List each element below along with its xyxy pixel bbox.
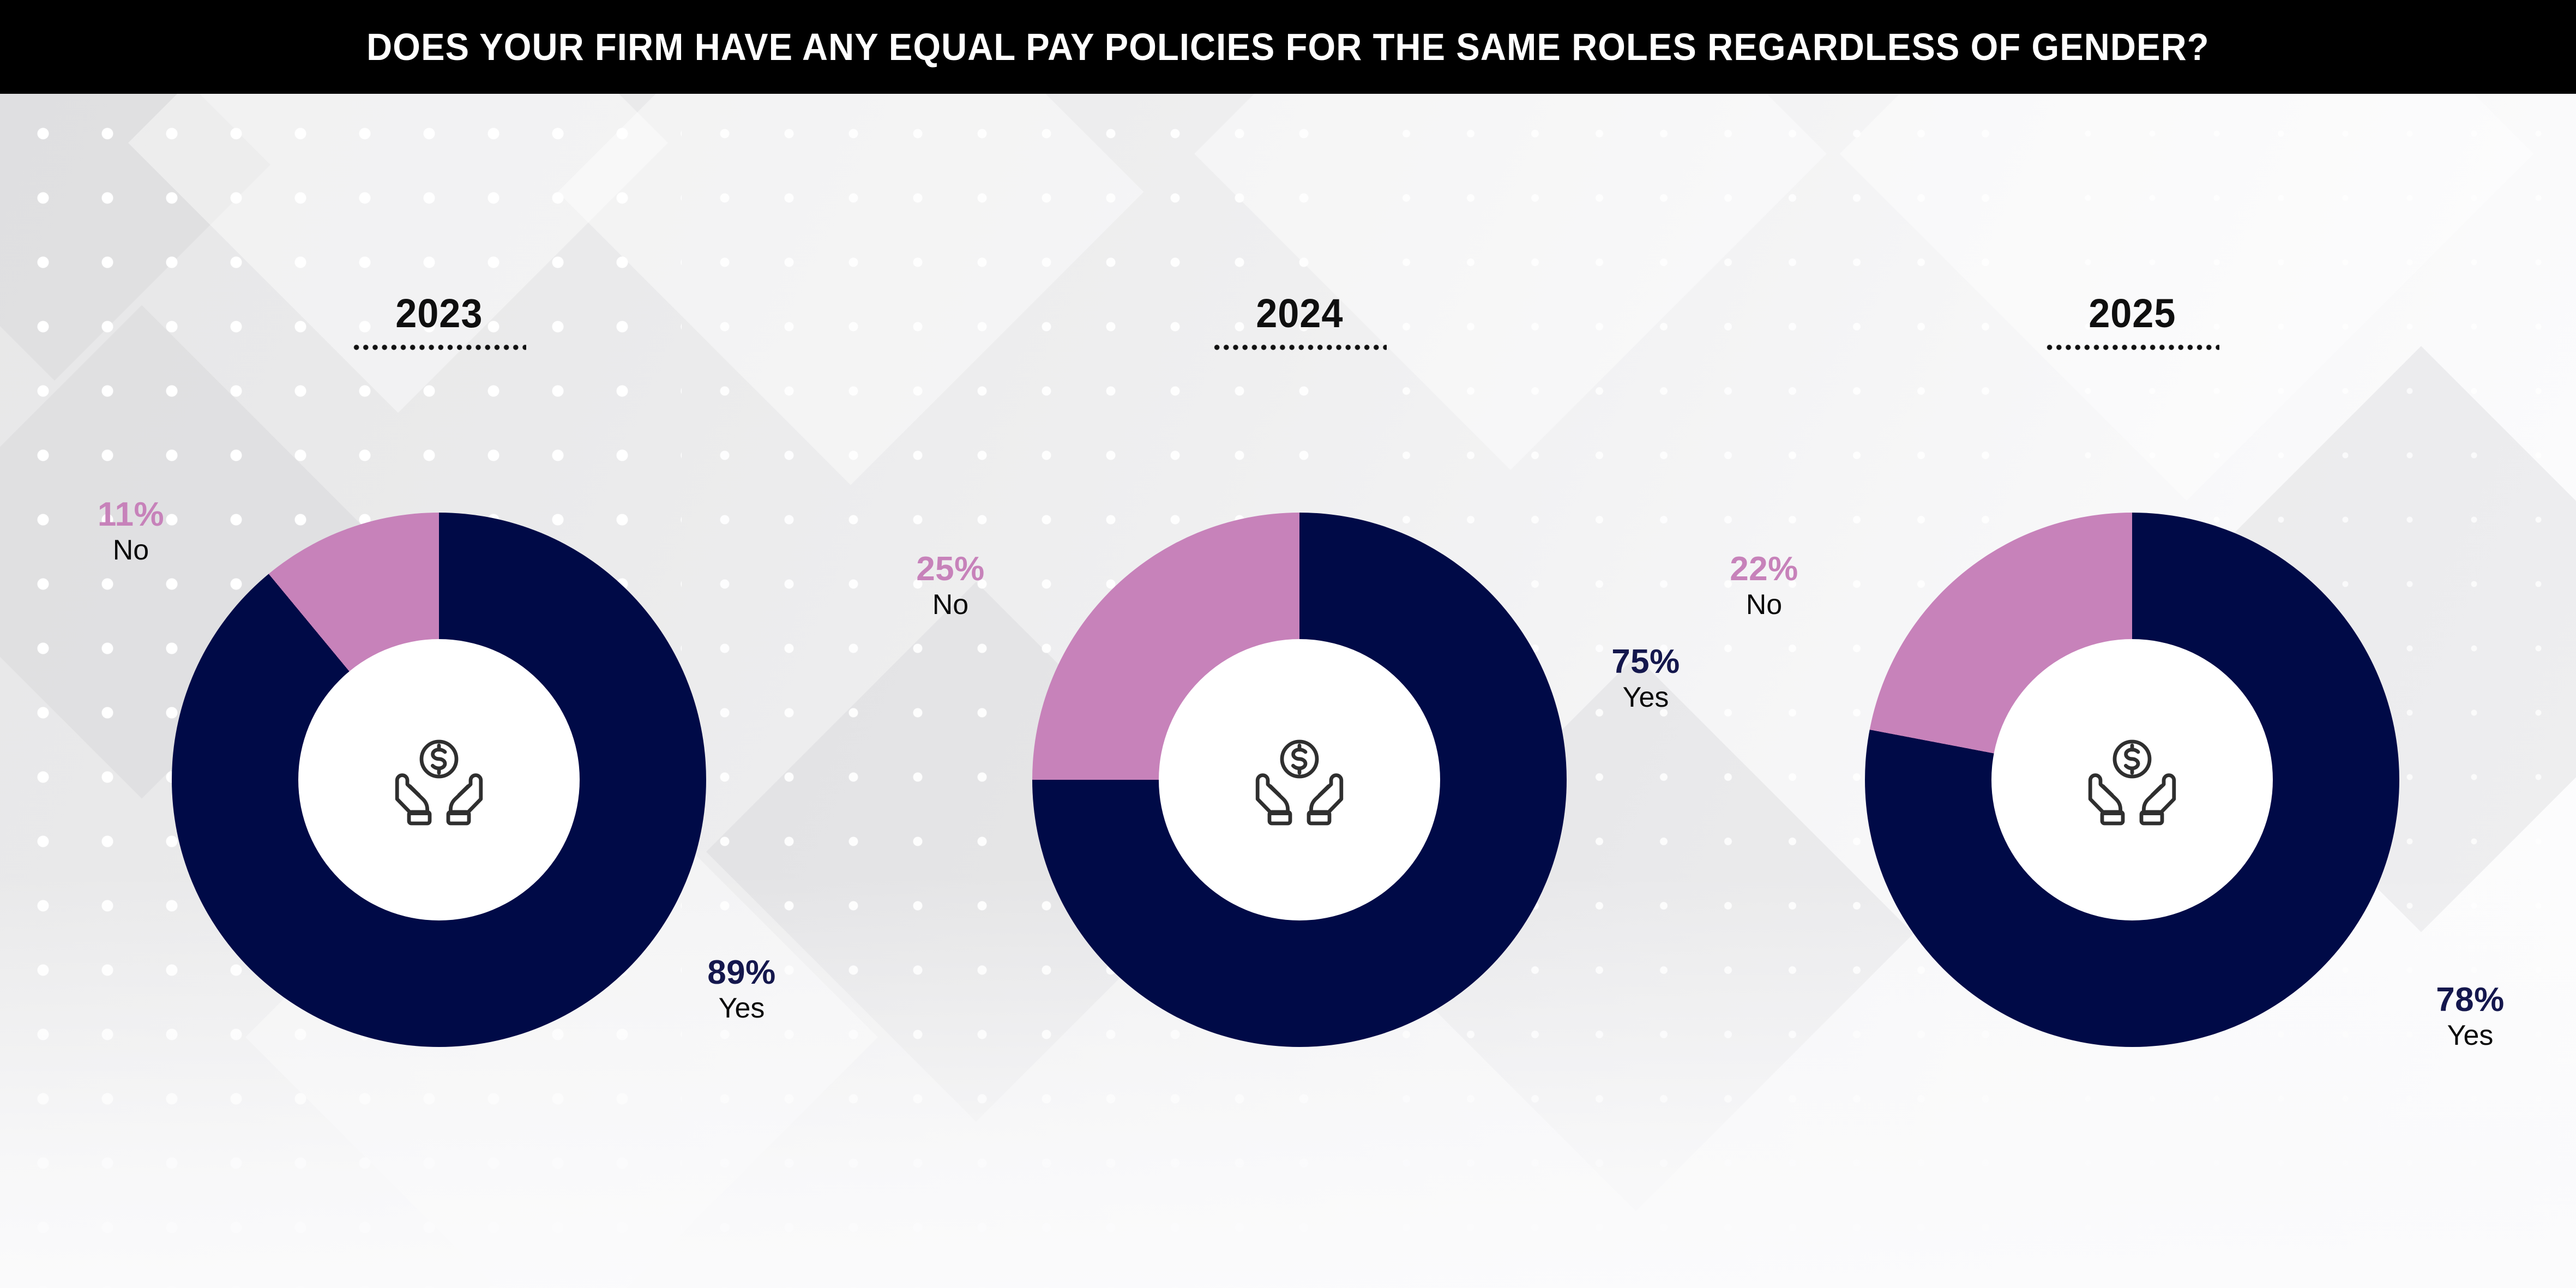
label-no-2024: 25% No (880, 552, 1021, 621)
hands-holding-dollar-coin-icon (1245, 725, 1354, 834)
value-no-pct: 25% (880, 552, 1021, 587)
dotted-underline (352, 344, 526, 351)
value-no-answer: No (1693, 589, 1835, 621)
title-bar: DOES YOUR FIRM HAVE ANY EQUAL PAY POLICI… (0, 0, 2576, 94)
label-yes-2024: 75% Yes (1578, 645, 1714, 714)
year-label: 2025 (2089, 290, 2176, 336)
hands-holding-dollar-coin-icon (384, 725, 493, 834)
dotted-underline (2045, 344, 2219, 351)
donut-2023 (172, 513, 706, 1047)
year-heading-2025: 2025 (1750, 290, 2514, 351)
dotted-underline (1212, 344, 1387, 351)
donut-2024 (1032, 513, 1567, 1047)
donut-center-2025 (1991, 639, 2273, 920)
value-yes-answer: Yes (2402, 1020, 2538, 1051)
label-yes-2023: 89% Yes (673, 955, 810, 1025)
value-no-answer: No (880, 589, 1021, 621)
donut-center-2024 (1159, 639, 1440, 920)
page-title: DOES YOUR FIRM HAVE ANY EQUAL PAY POLICI… (366, 25, 2209, 69)
value-no-pct: 11% (68, 497, 194, 532)
value-no-pct: 22% (1693, 552, 1835, 587)
value-yes-pct: 75% (1578, 645, 1714, 679)
donut-center-2023 (298, 639, 580, 920)
donut-chart-2025: 2025 (1750, 94, 2514, 1288)
hands-holding-dollar-coin-icon (2078, 725, 2187, 834)
value-no-answer: No (68, 534, 194, 566)
value-yes-pct: 78% (2402, 983, 2538, 1018)
donut-chart-2023: 2023 (57, 94, 821, 1288)
value-yes-pct: 89% (673, 955, 810, 990)
value-yes-answer: Yes (673, 992, 810, 1024)
label-no-2023: 11% No (68, 497, 194, 567)
year-heading-2023: 2023 (57, 290, 821, 351)
infographic-canvas: 2023 (0, 94, 2576, 1288)
year-heading-2024: 2024 (918, 290, 1681, 351)
year-label: 2024 (1256, 290, 1343, 336)
label-yes-2025: 78% Yes (2402, 983, 2538, 1052)
donut-2025 (1865, 513, 2399, 1047)
label-no-2025: 22% No (1693, 552, 1835, 621)
donut-chart-2024: 2024 (918, 94, 1681, 1288)
value-yes-answer: Yes (1578, 682, 1714, 713)
year-label: 2023 (395, 290, 483, 336)
